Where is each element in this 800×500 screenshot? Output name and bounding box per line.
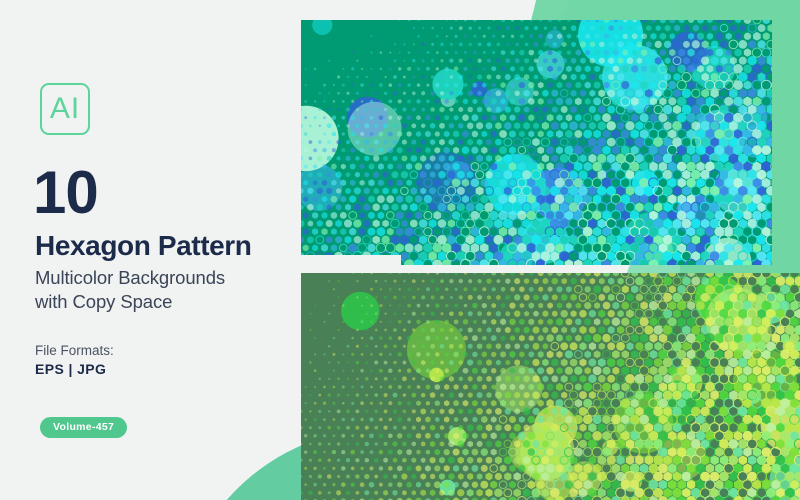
volume-badge: Volume-457	[40, 417, 127, 438]
hexagon-pattern-bottom	[301, 273, 800, 500]
preview-top	[301, 20, 772, 265]
info-column: AI 10 Hexagon Pattern Multicolor Backgro…	[0, 0, 300, 500]
file-formats-label: File Formats:	[35, 343, 114, 358]
ai-badge-label: AI	[50, 94, 80, 124]
file-formats-value: EPS | JPG	[35, 361, 106, 377]
adobe-illustrator-icon: AI	[40, 83, 90, 135]
preview-bottom	[301, 273, 800, 500]
page-title: Hexagon Pattern	[35, 232, 252, 260]
page-subtitle: Multicolor Backgrounds with Copy Space	[35, 266, 285, 313]
hexagon-pattern-top	[301, 20, 772, 265]
item-count: 10	[33, 163, 98, 223]
page-subtitle-line-1: Multicolor Backgrounds	[35, 266, 285, 290]
page-subtitle-line-2: with Copy Space	[35, 290, 285, 314]
poster-canvas: AI 10 Hexagon Pattern Multicolor Backgro…	[0, 0, 800, 500]
